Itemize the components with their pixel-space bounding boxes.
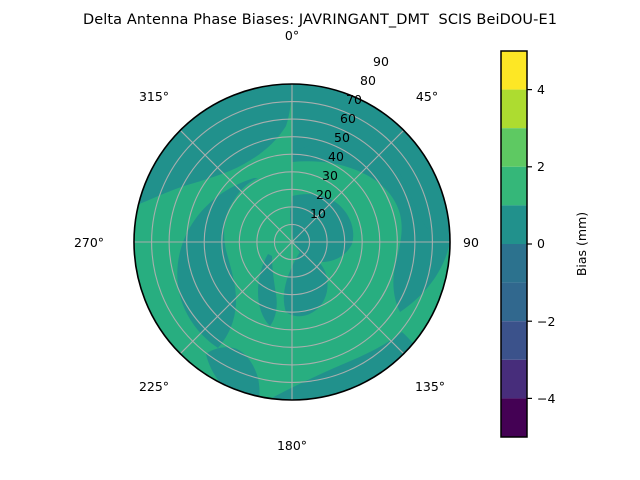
colorbar-band-2 <box>501 321 527 360</box>
figure-canvas: Delta Antenna Phase Biases: JAVRINGANT_D… <box>0 0 640 480</box>
colorbar-band-0 <box>501 398 527 437</box>
colorbar-bands <box>501 51 527 437</box>
colorbar[interactable]: 4 2 0 −2 −4 Bias (mm) <box>0 0 640 480</box>
colorbar-band-8 <box>501 90 527 129</box>
colorbar-tick-label-4: 4 <box>537 82 545 97</box>
colorbar-tick-label-m2: −2 <box>537 314 555 329</box>
colorbar-band-9 <box>501 51 527 90</box>
colorbar-tick-label-2: 2 <box>537 159 545 174</box>
colorbar-tick-label-m4: −4 <box>537 391 555 406</box>
colorbar-band-6 <box>501 167 527 206</box>
colorbar-tick-labels: 4 2 0 −2 −4 <box>537 82 555 406</box>
colorbar-band-7 <box>501 128 527 167</box>
colorbar-band-5 <box>501 205 527 244</box>
colorbar-band-1 <box>501 360 527 399</box>
colorbar-axis-label: Bias (mm) <box>574 212 589 276</box>
colorbar-band-3 <box>501 283 527 322</box>
colorbar-band-4 <box>501 244 527 283</box>
colorbar-tick-label-0: 0 <box>537 236 545 251</box>
